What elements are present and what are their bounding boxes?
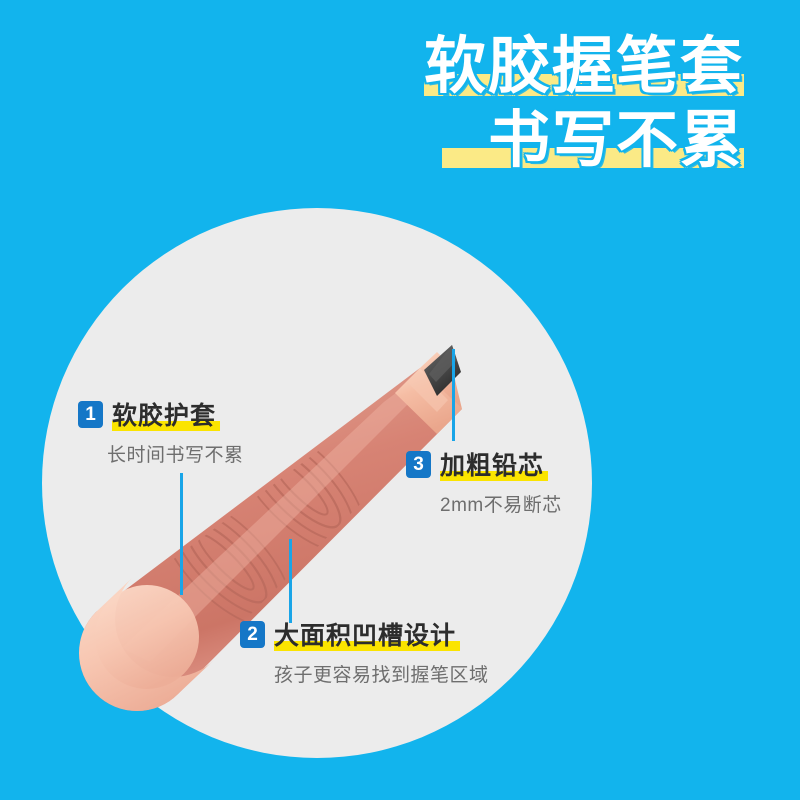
callout-2-badge: 2: [240, 621, 265, 648]
callout-3-subtitle: 2mm不易断芯: [440, 490, 562, 517]
headline-line-2-text: 书写不累: [488, 106, 744, 175]
callout-3-title: 加粗铅芯: [440, 452, 544, 480]
callout-2-title-wrap: 大面积凹槽设计: [274, 616, 456, 652]
leader-line-3: [452, 349, 455, 441]
callout-3-title-wrap: 加粗铅芯: [440, 446, 544, 482]
callout-1: 1 软胶护套 长时间书写不累: [78, 396, 244, 467]
callout-1-title: 软胶护套: [112, 402, 216, 430]
callout-2-subtitle: 孩子更容易找到握笔区域: [274, 660, 489, 687]
callout-3-badge: 3: [406, 451, 431, 478]
callout-3-head: 3 加粗铅芯: [406, 446, 562, 482]
callout-1-head: 1 软胶护套: [78, 396, 244, 432]
callout-2: 2 大面积凹槽设计 孩子更容易找到握笔区域: [240, 616, 489, 687]
callout-1-subtitle: 长时间书写不累: [107, 440, 244, 467]
headline-line-1-text: 软胶握笔套: [424, 32, 744, 101]
callout-2-title: 大面积凹槽设计: [274, 622, 456, 650]
headline-block: 软胶握笔套 书写不累: [424, 36, 744, 172]
leader-line-2: [289, 539, 292, 623]
callout-1-title-wrap: 软胶护套: [112, 396, 216, 432]
headline-line-1: 软胶握笔套: [424, 36, 744, 98]
callout-3: 3 加粗铅芯 2mm不易断芯: [406, 446, 562, 517]
headline-line-2: 书写不累: [424, 110, 744, 172]
product-promo-poster: 软胶握笔套 书写不累: [0, 0, 800, 800]
leader-line-1: [180, 473, 183, 595]
callout-2-head: 2 大面积凹槽设计: [240, 616, 489, 652]
callout-1-badge: 1: [78, 401, 103, 428]
